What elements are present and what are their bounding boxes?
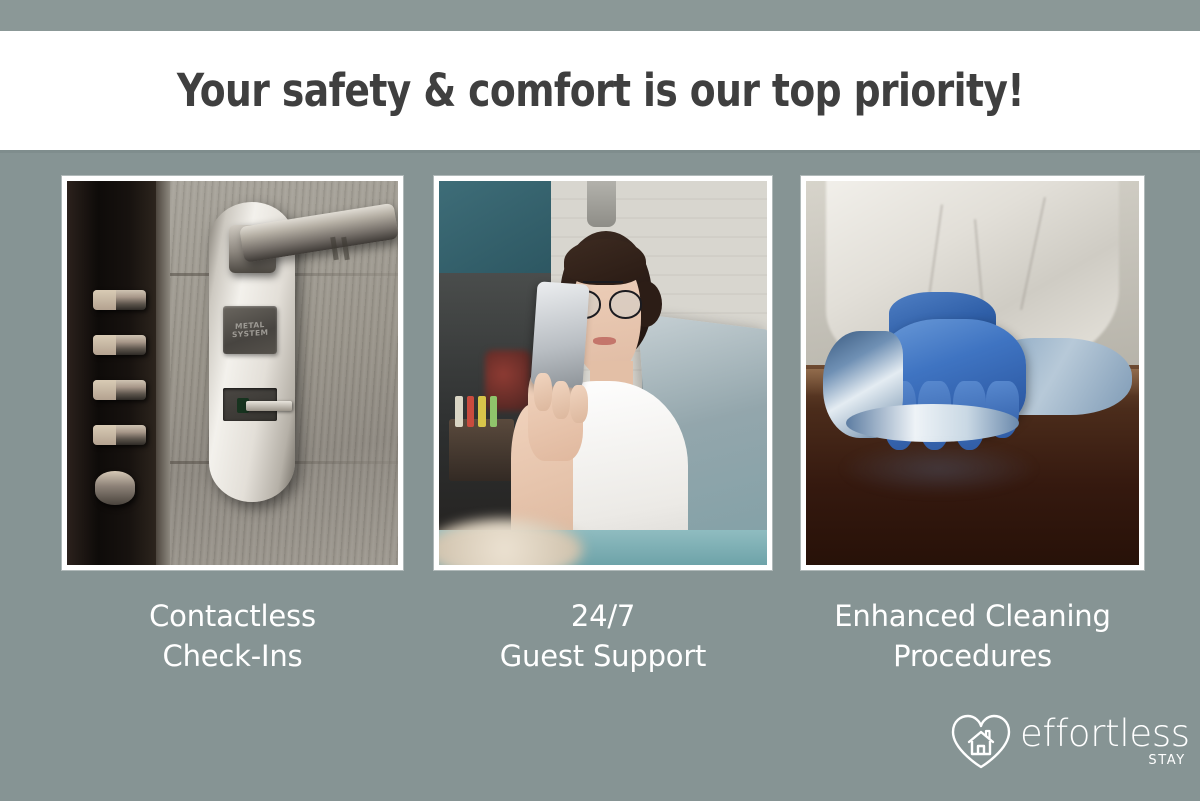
- guest-support-photo: [439, 181, 767, 565]
- finger: [552, 381, 570, 419]
- teal-cabinet: [439, 181, 551, 281]
- feature-card-contactless-check-ins: METAL SYSTEM: [62, 176, 403, 570]
- feature-cards: METAL SYSTEM: [0, 176, 1200, 576]
- eyeglass-lens-right: [609, 290, 643, 319]
- eyeglass-bridge: [583, 281, 622, 283]
- key-blade: [246, 401, 292, 411]
- feature-caption-guest-support: 24/7 Guest Support: [434, 596, 772, 676]
- brand-logo: effortless STAY: [948, 706, 1158, 778]
- table-reflection: [839, 442, 1039, 496]
- cleaning-photo: [806, 181, 1139, 565]
- deadbolt-pin: [93, 425, 146, 445]
- pendant-lamp: [587, 181, 617, 227]
- cleaning-cloth-front: [846, 404, 1019, 442]
- pen: [490, 396, 497, 427]
- lock-brand-label: METAL SYSTEM: [223, 306, 278, 354]
- lips: [593, 337, 616, 346]
- page-title: Your safety & comfort is our top priorit…: [176, 64, 1023, 117]
- photo-frame: METAL SYSTEM: [62, 176, 403, 570]
- logo-wordmark: effortless STAY: [1020, 715, 1190, 769]
- top-accent-band: [0, 0, 1200, 31]
- header-bar: Your safety & comfort is our top priorit…: [0, 31, 1200, 150]
- pen: [467, 396, 474, 427]
- finger: [534, 373, 552, 411]
- logo-word: effortless: [1020, 715, 1190, 753]
- deadbolt-pin: [93, 380, 146, 400]
- lock-brand-line2: SYSTEM: [232, 329, 268, 339]
- deadbolt-pin: [93, 335, 146, 355]
- photo-frame: [434, 176, 772, 570]
- feature-caption-enhanced-cleaning: Enhanced Cleaning Procedures: [801, 596, 1144, 676]
- finger: [570, 385, 588, 423]
- pen-holder: [449, 419, 515, 480]
- smartphone: [531, 281, 591, 388]
- feature-caption-contactless-check-ins: Contactless Check-Ins: [62, 596, 403, 676]
- pen: [478, 396, 485, 427]
- deadbolt-pin: [93, 290, 146, 310]
- door-jamb-edge: [156, 181, 169, 565]
- logo-subword: STAY: [1020, 753, 1190, 769]
- lock-knob: [95, 471, 135, 506]
- heart-house-icon: [948, 712, 1014, 772]
- door-lock-photo: METAL SYSTEM: [67, 181, 398, 565]
- hair-fringe: [564, 239, 646, 285]
- header-divider: [0, 150, 1200, 153]
- pen: [455, 396, 462, 427]
- feature-card-enhanced-cleaning: [801, 176, 1144, 570]
- photo-frame: [801, 176, 1144, 570]
- door-jamb: [67, 181, 156, 565]
- promo-graphic: Your safety & comfort is our top priorit…: [0, 0, 1200, 801]
- feature-card-guest-support: [434, 176, 772, 570]
